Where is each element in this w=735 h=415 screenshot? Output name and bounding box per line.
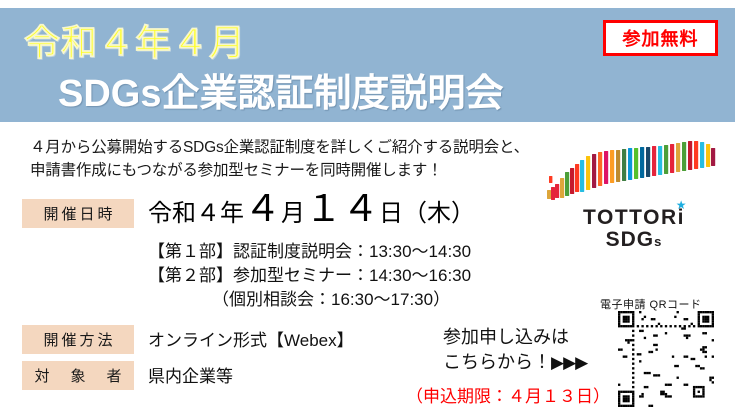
logo-sdgs-suffix: s [654, 234, 662, 249]
free-admission-label: 参加無料 [623, 25, 699, 51]
qr-code-svg [618, 311, 714, 407]
date-weekday: （木） [403, 200, 475, 227]
event-flyer: 令和４年４月 SDGs企業認証制度説明会 参加無料 ４月から公募開始するSDGs… [0, 0, 735, 415]
intro-line-1: ４月から公募開始するSDGs企業認証制度を詳しくご紹介する説明会 [30, 139, 499, 156]
method-value: オンライン形式【Webex】 [148, 326, 354, 351]
date-month-number: ４ [244, 188, 281, 229]
page-title-line2: SDGs企業認証制度説明会 [58, 62, 503, 117]
arrow-right-icon: ▶▶▶ [551, 353, 587, 372]
date-day-number: １４ [305, 188, 379, 229]
star-icon: ★ [676, 199, 688, 211]
date-era: 令和４年 [148, 200, 244, 227]
qr-code-caption: 電子申請 QRコード [600, 296, 702, 312]
qr-code-icon[interactable] [618, 311, 714, 407]
date-month-unit: 月 [281, 200, 305, 227]
logo-text: TOTTORi ★ SDGs [543, 206, 725, 252]
application-deadline: （申込期限：４月１３日） [406, 382, 610, 407]
date-value: 令和４年４月１４日（木） [148, 190, 475, 227]
program-item-part2: 【第２部】参加型セミナー：14:30〜16:30 [148, 264, 471, 288]
apply-line-2: こちらから！▶▶▶ [443, 350, 587, 375]
page-title-line1: 令和４年４月 [24, 14, 246, 66]
apply-line-2-label: こちらから！ [443, 352, 551, 372]
apply-instructions: 参加申し込みは こちらから！▶▶▶ [443, 325, 587, 375]
free-admission-badge: 参加無料 [603, 20, 718, 56]
label-method: 開催方法 [22, 325, 134, 354]
label-date: 開催日時 [22, 199, 134, 228]
target-value: 県内企業等 [148, 362, 233, 387]
tottori-map-icon [545, 138, 723, 208]
apply-line-1: 参加申し込みは [443, 325, 587, 350]
label-target: 対 象 者 [22, 361, 134, 390]
logo-name-tottori: TOTTORi ★ [583, 206, 685, 230]
tottori-sdgs-logo: TOTTORi ★ SDGs [543, 138, 725, 256]
logo-name-sdgs: SDGs [543, 228, 725, 252]
intro-paragraph: ４月から公募開始するSDGs企業認証制度を詳しくご紹介する説明会と、申請書作成に… [30, 136, 540, 182]
logo-tottori-label: TOTTORi [583, 206, 685, 229]
date-day-unit: 日 [379, 200, 403, 227]
program-item-part1: 【第１部】認証制度説明会：13:30〜14:30 [148, 240, 471, 264]
logo-sdgs-label: SDG [606, 228, 655, 251]
program-list: 【第１部】認証制度説明会：13:30〜14:30 【第２部】参加型セミナー：14… [148, 240, 471, 312]
program-item-consultation: （個別相談会：16:30〜17:30） [148, 288, 450, 312]
